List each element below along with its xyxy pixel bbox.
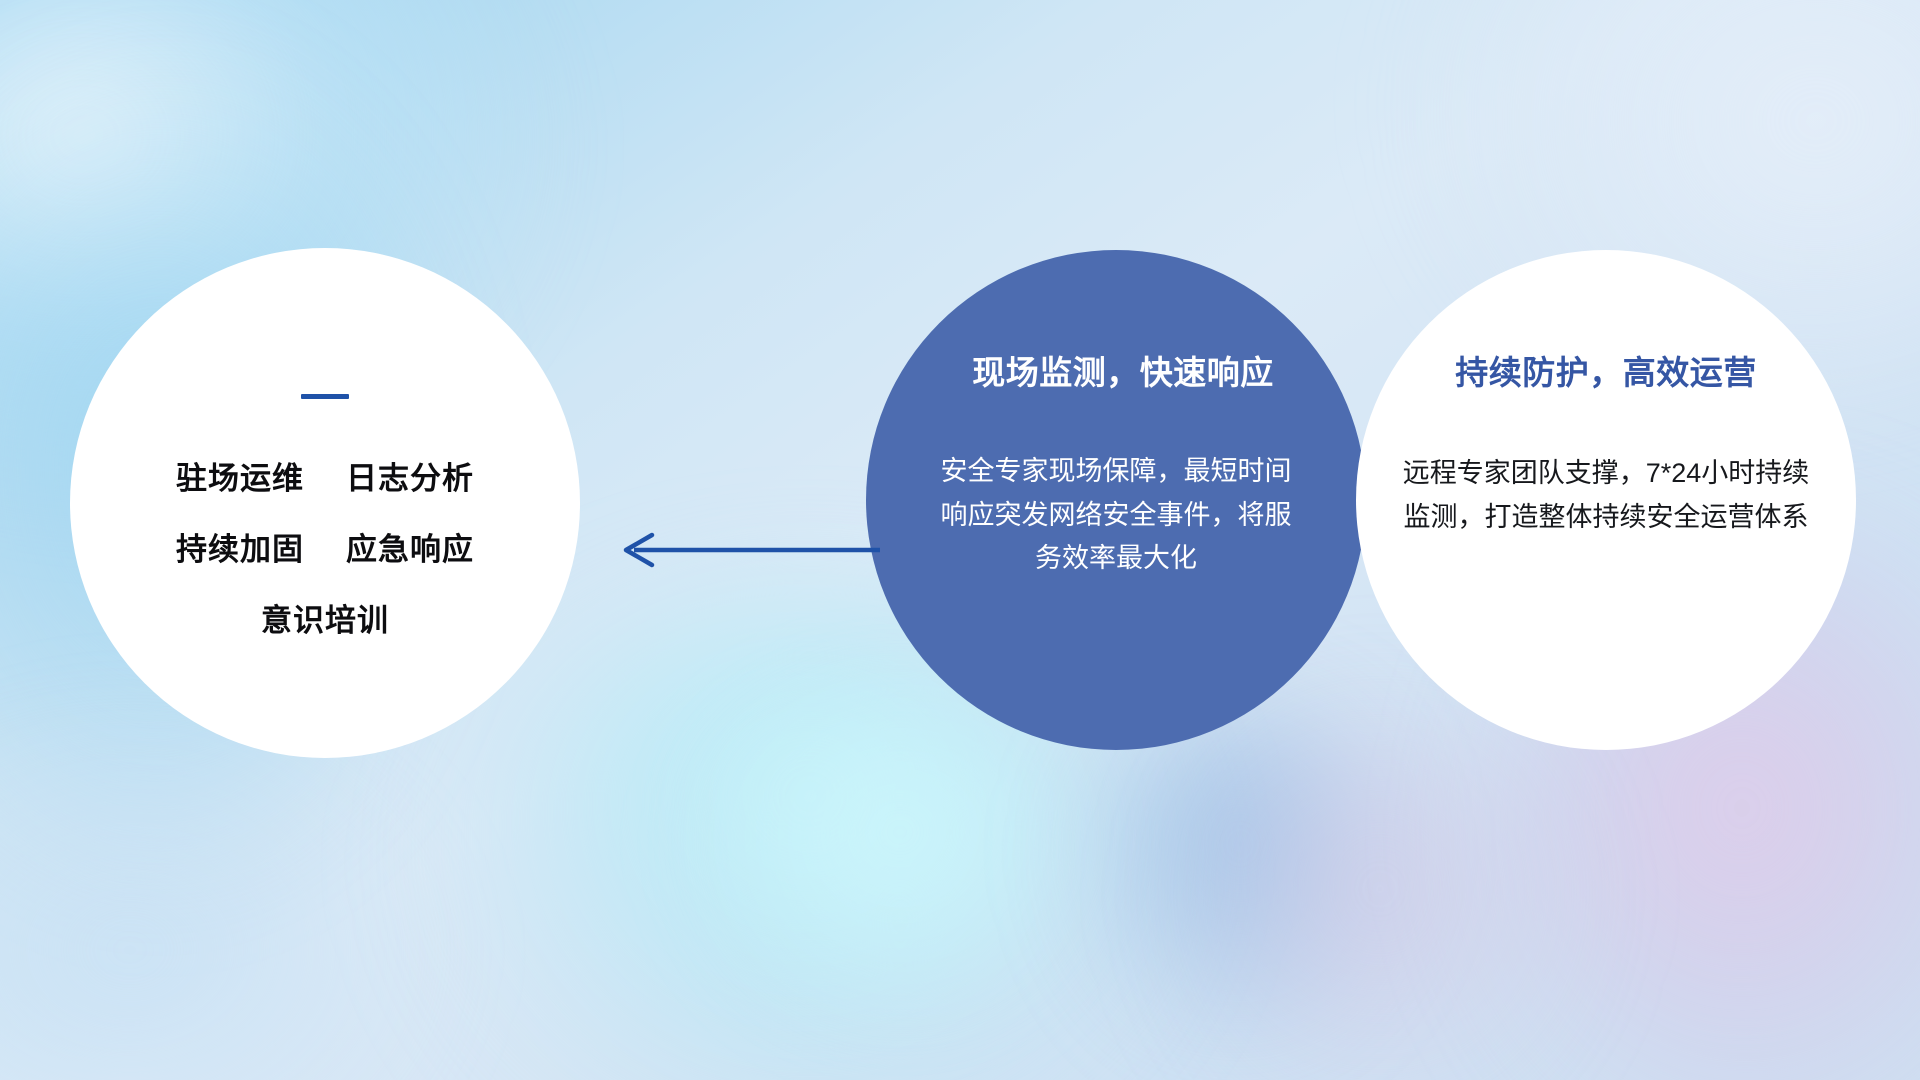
keyword-item-center: 意识培训 xyxy=(90,595,560,640)
keyword-item: 日志分析 xyxy=(346,453,474,498)
keyword-item: 应急响应 xyxy=(346,524,474,569)
left-circle-content: 驻场运维 日志分析 持续加固 应急响应 意识培训 xyxy=(90,394,560,640)
middle-circle-body: 安全专家现场保障，最短时间响应突发网络安全事件，将服务效率最大化 xyxy=(916,450,1316,581)
capability-circle-left[interactable]: 驻场运维 日志分析 持续加固 应急响应 意识培训 xyxy=(70,248,580,758)
keyword-row: 持续加固 应急响应 xyxy=(90,524,560,569)
right-circle-content: 持续防护，高效运营 远程专家团队支撑，7*24小时持续监测，打造整体持续安全运营… xyxy=(1391,346,1821,539)
capability-circle-middle[interactable]: 现场监测，快速响应 安全专家现场保障，最短时间响应突发网络安全事件，将服务效率最… xyxy=(866,250,1366,750)
connector-arrow xyxy=(612,520,882,580)
right-circle-body: 远程专家团队支撑，7*24小时持续监测，打造整体持续安全运营体系 xyxy=(1391,452,1821,539)
keyword-item: 持续加固 xyxy=(176,524,304,569)
keyword-row: 驻场运维 日志分析 xyxy=(90,453,560,498)
middle-circle-title: 现场监测，快速响应 xyxy=(930,346,1316,394)
divider-rule xyxy=(301,394,349,399)
capability-circle-right[interactable]: 持续防护，高效运营 远程专家团队支撑，7*24小时持续监测，打造整体持续安全运营… xyxy=(1356,250,1856,750)
middle-circle-content: 现场监测，快速响应 安全专家现场保障，最短时间响应突发网络安全事件，将服务效率最… xyxy=(916,346,1316,581)
slide-canvas: 驻场运维 日志分析 持续加固 应急响应 意识培训 现场监测，快速响应 安全专家现… xyxy=(0,0,1920,1080)
arrow-left-icon xyxy=(612,520,882,580)
right-circle-title: 持续防护，高效运营 xyxy=(1391,346,1821,394)
keyword-item: 驻场运维 xyxy=(176,453,304,498)
